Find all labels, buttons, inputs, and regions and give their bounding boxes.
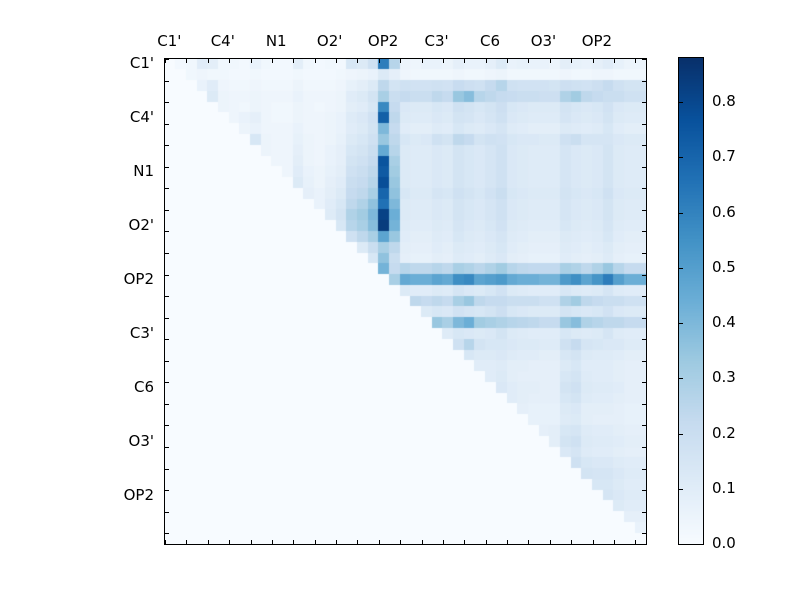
x-tick (400, 59, 401, 63)
colorbar-tick (679, 157, 683, 158)
y-tick (642, 59, 646, 60)
y-tick (165, 447, 169, 448)
y-tick (642, 253, 646, 254)
x-tick-label: C6 (480, 32, 500, 50)
y-tick (165, 512, 169, 513)
x-tick (400, 540, 401, 544)
colorbar-tick (679, 544, 683, 545)
x-tick (272, 59, 273, 63)
y-tick-label: O2' (129, 216, 154, 234)
y-tick (642, 404, 646, 405)
y-tick (165, 318, 169, 319)
y-tick (165, 231, 169, 232)
colorbar-tick (679, 213, 683, 214)
y-tick-label: O3' (129, 432, 154, 450)
y-tick (642, 382, 646, 383)
x-tick (486, 540, 487, 544)
x-tick-label: OP2 (368, 32, 398, 50)
x-tick (635, 59, 636, 63)
x-tick (315, 59, 316, 63)
y-tick (165, 145, 169, 146)
y-tick-label: C6 (134, 378, 154, 396)
y-tick (642, 275, 646, 276)
y-tick-label: C3' (130, 324, 154, 342)
y-tick (642, 361, 646, 362)
x-tick (165, 540, 166, 544)
y-tick (642, 469, 646, 470)
x-tick (186, 540, 187, 544)
y-tick (165, 382, 169, 383)
y-tick (642, 231, 646, 232)
y-tick (165, 533, 169, 534)
x-tick (293, 59, 294, 63)
x-tick (550, 540, 551, 544)
y-tick (642, 490, 646, 491)
y-tick (642, 339, 646, 340)
y-tick (165, 81, 169, 82)
colorbar-tick (679, 268, 683, 269)
colorbar-tick-label: 0.5 (712, 258, 736, 276)
colorbar-tick-label: 0.3 (712, 368, 736, 386)
x-tick (336, 59, 337, 63)
x-tick (208, 59, 209, 63)
y-tick-label: C4' (130, 108, 154, 126)
y-tick-label: OP2 (124, 270, 154, 288)
x-tick (379, 59, 380, 63)
y-tick (642, 188, 646, 189)
y-tick (642, 145, 646, 146)
y-tick (642, 447, 646, 448)
x-tick (251, 540, 252, 544)
x-tick (443, 59, 444, 63)
y-tick (165, 490, 169, 491)
colorbar-gradient (679, 58, 703, 544)
colorbar-tick-label: 0.7 (712, 147, 736, 165)
y-tick (642, 102, 646, 103)
y-tick (642, 318, 646, 319)
x-tick (507, 59, 508, 63)
x-tick-label: N1 (266, 32, 287, 50)
y-tick (642, 425, 646, 426)
x-tick (357, 59, 358, 63)
x-tick (507, 540, 508, 544)
x-tick (422, 540, 423, 544)
y-tick (165, 188, 169, 189)
y-tick (642, 296, 646, 297)
colorbar-tick (679, 102, 683, 103)
x-tick-label: O2' (317, 32, 342, 50)
x-tick (379, 540, 380, 544)
y-tick (165, 124, 169, 125)
x-tick (593, 540, 594, 544)
x-tick (208, 540, 209, 544)
heatmap-axes[interactable] (164, 58, 647, 545)
y-tick (642, 81, 646, 82)
x-tick (593, 59, 594, 63)
y-tick-label: OP2 (124, 486, 154, 504)
x-tick (272, 540, 273, 544)
colorbar-tick-label: 0.8 (712, 92, 736, 110)
colorbar-tick-label: 0.2 (712, 424, 736, 442)
y-tick-label: C1' (130, 54, 154, 72)
colorbar-tick (679, 434, 683, 435)
x-tick (336, 540, 337, 544)
y-tick (165, 210, 169, 211)
colorbar-tick-label: 0.1 (712, 479, 736, 497)
y-tick (165, 167, 169, 168)
x-tick (422, 59, 423, 63)
y-tick (642, 533, 646, 534)
y-tick (165, 425, 169, 426)
y-tick (165, 275, 169, 276)
y-tick (642, 512, 646, 513)
x-tick (550, 59, 551, 63)
x-tick-label: C1' (157, 32, 181, 50)
x-tick (293, 540, 294, 544)
colorbar-axes[interactable] (678, 57, 704, 545)
y-tick (642, 124, 646, 125)
y-tick (165, 339, 169, 340)
x-tick (571, 59, 572, 63)
colorbar-tick (679, 378, 683, 379)
x-tick-label: O3' (531, 32, 556, 50)
x-tick (229, 59, 230, 63)
x-tick (186, 59, 187, 63)
y-tick (165, 361, 169, 362)
x-tick (528, 59, 529, 63)
y-tick (642, 210, 646, 211)
colorbar-tick (679, 323, 683, 324)
x-tick-label: C3' (424, 32, 448, 50)
y-tick (165, 469, 169, 470)
x-tick (528, 540, 529, 544)
y-tick (165, 404, 169, 405)
x-tick-label: OP2 (582, 32, 612, 50)
y-tick (642, 167, 646, 168)
colorbar-tick-label: 0.4 (712, 313, 736, 331)
x-tick (635, 540, 636, 544)
x-tick (357, 540, 358, 544)
y-tick (165, 253, 169, 254)
x-tick (464, 59, 465, 63)
y-tick (165, 59, 169, 60)
y-tick (165, 296, 169, 297)
x-tick-label: C4' (211, 32, 235, 50)
x-tick (315, 540, 316, 544)
x-tick (614, 59, 615, 63)
heatmap-image[interactable] (165, 59, 646, 544)
x-tick (443, 540, 444, 544)
figure-canvas: C1'C4'N1O2'OP2C3'C6O3'OP2 C1'C4'N1O2'OP2… (0, 0, 800, 600)
x-tick (229, 540, 230, 544)
y-tick (165, 102, 169, 103)
colorbar-tick (679, 489, 683, 490)
x-tick (614, 540, 615, 544)
x-tick (251, 59, 252, 63)
colorbar-tick-label: 0.0 (712, 534, 736, 552)
x-tick (464, 540, 465, 544)
colorbar-tick-label: 0.6 (712, 203, 736, 221)
x-tick (486, 59, 487, 63)
x-tick (571, 540, 572, 544)
y-tick-label: N1 (133, 162, 154, 180)
